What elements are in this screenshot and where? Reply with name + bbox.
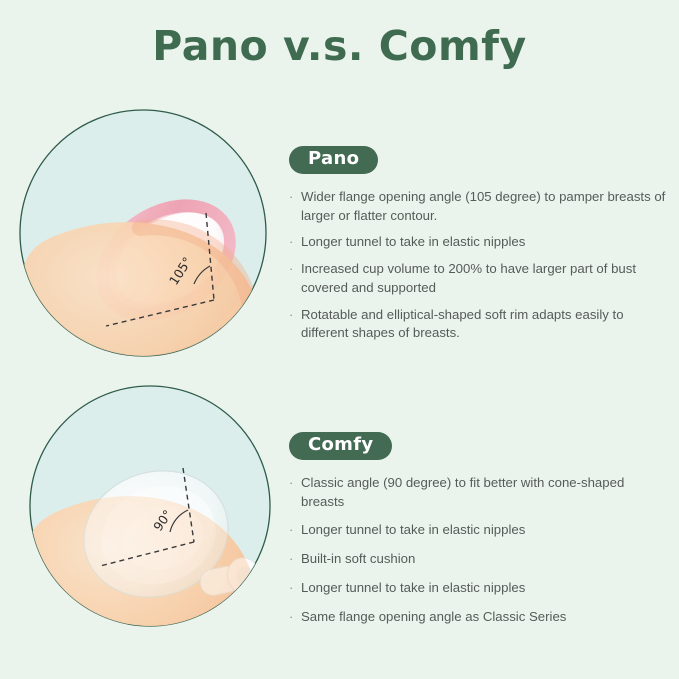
list-item-text: Same flange opening angle as Classic Ser…	[301, 609, 566, 624]
page-title: Pano v.s. Comfy	[0, 22, 679, 70]
list-item: · Increased cup volume to 200% to have l…	[289, 260, 667, 297]
pano-flange-illustration: 105°	[18, 108, 268, 358]
list-item-text: Increased cup volume to 200% to have lar…	[301, 261, 636, 295]
list-item-text: Longer tunnel to take in elastic nipples	[301, 234, 525, 249]
list-item-text: Classic angle (90 degree) to fit better …	[301, 475, 624, 509]
list-item: · Wider flange opening angle (105 degree…	[289, 188, 667, 225]
bullet-dot-icon: ·	[289, 233, 293, 251]
comparison-section-pano: 105° Pano · Wider flange opening angle (…	[0, 100, 679, 370]
list-item-text: Built-in soft cushion	[301, 551, 415, 566]
list-item: · Built-in soft cushion	[289, 550, 667, 569]
bullet-dot-icon: ·	[289, 579, 293, 597]
list-item-text: Rotatable and elliptical-shaped soft rim…	[301, 307, 624, 341]
bullet-dot-icon: ·	[289, 521, 293, 539]
list-item: · Longer tunnel to take in elastic nippl…	[289, 233, 667, 252]
bullet-dot-icon: ·	[289, 608, 293, 626]
pano-feature-list: · Wider flange opening angle (105 degree…	[289, 188, 667, 343]
bullet-dot-icon: ·	[289, 306, 293, 324]
badge-comfy: Comfy	[289, 432, 392, 460]
list-item: · Classic angle (90 degree) to fit bette…	[289, 474, 667, 511]
comfy-flange-illustration: 90°	[28, 384, 273, 629]
bullet-dot-icon: ·	[289, 550, 293, 568]
comparison-section-comfy: 90° Comfy · Classic angle (90 degree) to…	[0, 378, 679, 643]
badge-pano: Pano	[289, 146, 378, 174]
comfy-feature-list: · Classic angle (90 degree) to fit bette…	[289, 474, 667, 626]
bullet-dot-icon: ·	[289, 188, 293, 206]
list-item-text: Longer tunnel to take in elastic nipples	[301, 522, 525, 537]
comfy-text-column: Comfy · Classic angle (90 degree) to fit…	[289, 432, 667, 636]
list-item: · Rotatable and elliptical-shaped soft r…	[289, 306, 667, 343]
list-item: · Longer tunnel to take in elastic nippl…	[289, 521, 667, 540]
pano-text-column: Pano · Wider flange opening angle (105 d…	[289, 146, 667, 351]
list-item: · Same flange opening angle as Classic S…	[289, 608, 667, 627]
bullet-dot-icon: ·	[289, 260, 293, 278]
list-item-text: Longer tunnel to take in elastic nipples	[301, 580, 525, 595]
list-item-text: Wider flange opening angle (105 degree) …	[301, 189, 665, 223]
list-item: · Longer tunnel to take in elastic nippl…	[289, 579, 667, 598]
bullet-dot-icon: ·	[289, 474, 293, 492]
